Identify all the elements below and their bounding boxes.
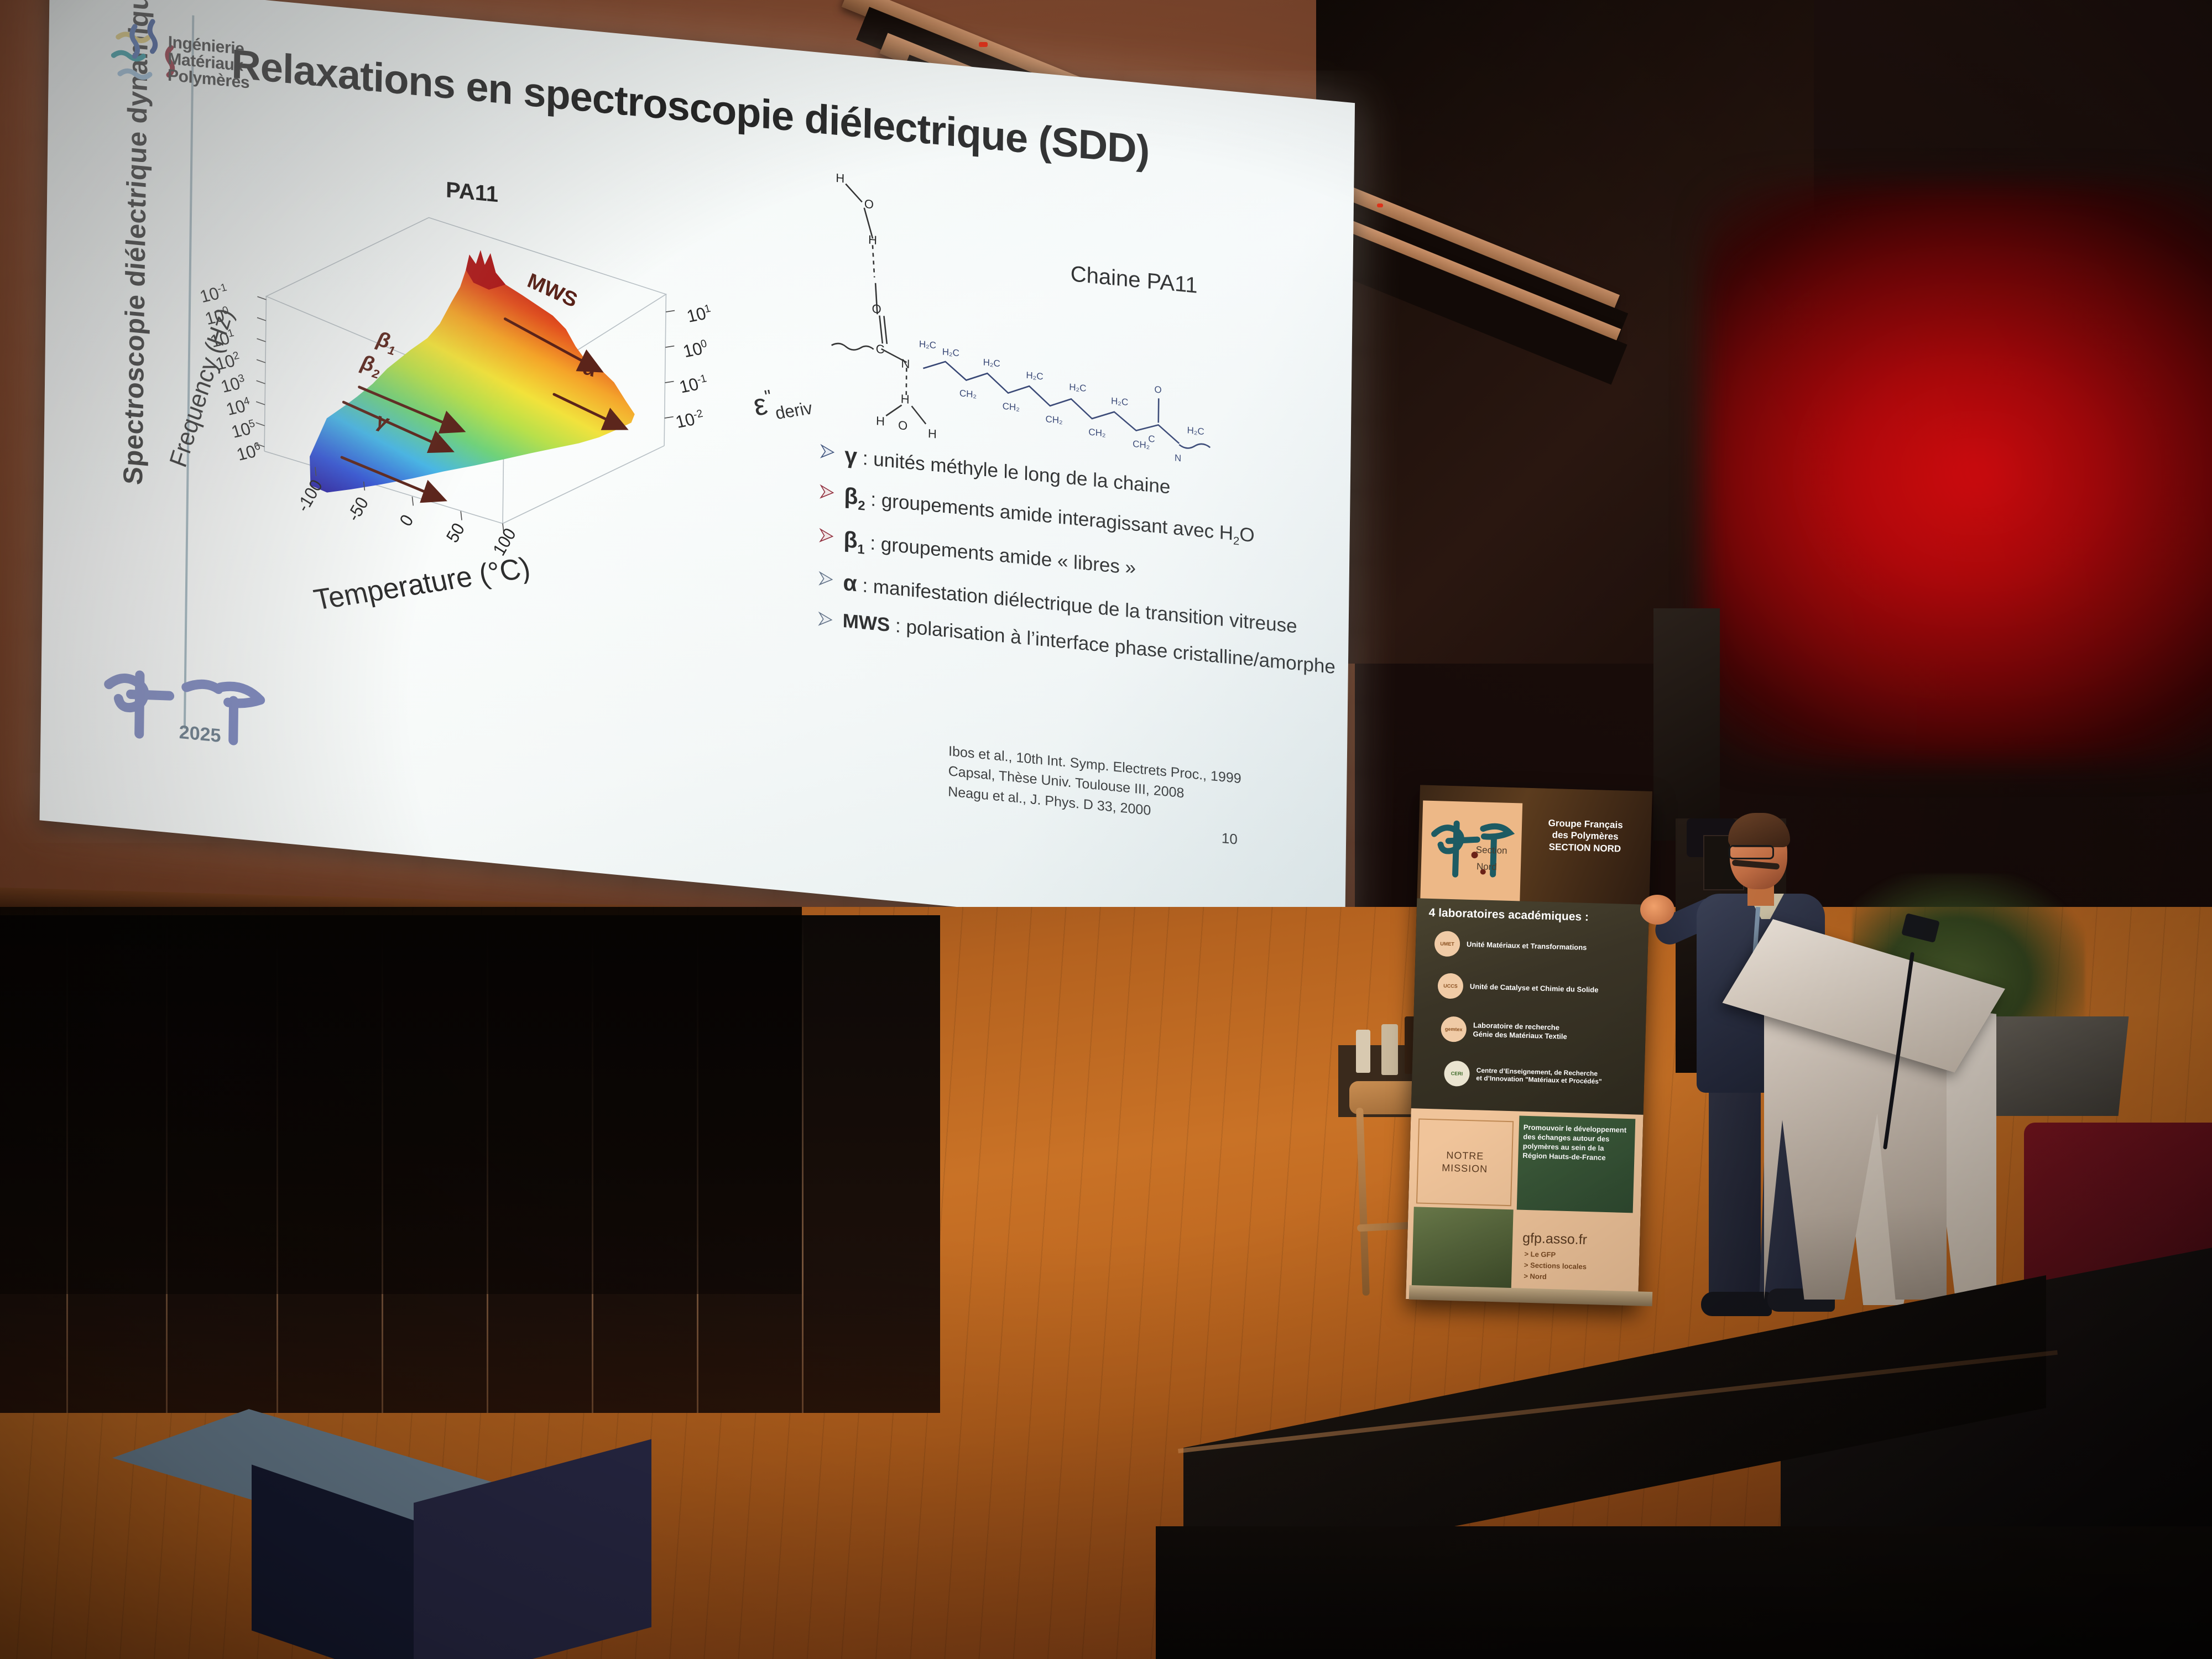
pa11-3d-surface-chart: PA11 — [208, 156, 789, 708]
svg-text:CH₂: CH₂ — [1133, 439, 1150, 451]
banner-mission-text: Promouvoir le développement des échanges… — [1517, 1116, 1636, 1213]
bullet-h2o-sub: 2 — [1233, 535, 1240, 548]
banner-logo-section: Section — [1476, 844, 1507, 856]
svg-text:H: H — [901, 392, 910, 406]
svg-text:CH₂: CH₂ — [1045, 414, 1062, 426]
lab-badge-icon: UMET — [1434, 931, 1460, 957]
svg-text:N: N — [1175, 452, 1181, 463]
x-axis-title: Temperature (°C) — [311, 551, 534, 617]
svg-text:H: H — [876, 414, 885, 428]
bottle-2 — [1381, 1024, 1398, 1075]
screen-surface: Spectroscopie diélectrique dynamique Ing… — [40, 0, 1355, 943]
lab-name: Unité Matériaux et Transformations — [1467, 940, 1587, 952]
curtain-seam — [802, 915, 804, 1413]
lab-name: Centre d’Enseignement, de Recherche et d… — [1476, 1066, 1602, 1086]
bullet-symbol-beta1: β — [843, 526, 858, 553]
bullet-text-beta1: : groupements amide « libres » — [864, 531, 1136, 578]
svg-text:O: O — [1154, 384, 1161, 395]
bullet-arrow-icon — [818, 483, 835, 507]
speaker-hand — [1640, 895, 1674, 925]
banner-labs-section: 4 laboratoires académiques : UMET Unité … — [1411, 898, 1649, 1115]
lab-badge-icon: CERI — [1444, 1061, 1470, 1087]
lab-name: Laboratoire de recherche Génie des Matér… — [1473, 1021, 1567, 1041]
bullet-symbol-gamma: γ — [844, 442, 857, 469]
banner-lab-row: UMET Unité Matériaux et Transformations — [1434, 931, 1587, 961]
banner-lab-row: gemtex Laboratoire de recherche Génie de… — [1441, 1016, 1567, 1045]
bullet-symbol-alpha: α — [843, 570, 857, 596]
banner-links: > Le GFP > Sections locales > Nord — [1524, 1249, 1587, 1284]
bottle-1 — [1356, 1030, 1370, 1073]
bullet-arrow-icon — [818, 526, 834, 550]
auditorium-scene: Spectroscopie diélectrique dynamique Ing… — [0, 0, 2212, 1659]
speaker-left-shoe — [1701, 1292, 1772, 1316]
banner-url[interactable]: gfp.asso.fr — [1522, 1230, 1587, 1248]
svg-text:C: C — [1148, 434, 1155, 445]
bullet-h2o-o: O — [1239, 524, 1255, 547]
lab-badge-icon: gemtex — [1441, 1016, 1467, 1042]
lab-name: Unité de Catalyse et Chimie du Solide — [1470, 982, 1599, 994]
slide-title: Relaxations en spectroscopie diélectriqu… — [231, 41, 1227, 181]
banner-mission-section: NOTRE MISSION Promouvoir le développemen… — [1406, 1108, 1643, 1306]
gfp-rollup-banner: Section Nord Groupe Français des Polymèr… — [1406, 785, 1652, 1305]
flight-case-body — [1156, 1526, 2212, 1659]
bullet-arrow-icon — [819, 442, 836, 466]
bullet-symbol-beta2: β — [844, 483, 858, 509]
svg-text:H₂C: H₂C — [1026, 370, 1043, 382]
svg-text:H: H — [868, 233, 877, 247]
gfp-logo-year: 2025 — [179, 722, 221, 747]
svg-text:H₂C: H₂C — [983, 357, 1000, 369]
banner-lab-row: UCCS Unité de Catalyse et Chimie du Soli… — [1437, 973, 1599, 1003]
svg-text:C: C — [876, 342, 885, 356]
red-spotlight — [1703, 182, 2212, 763]
slide-references: Ibos et al., 10th Int. Symp. Electrets P… — [948, 741, 1241, 829]
svg-text:H: H — [836, 171, 844, 185]
svg-text:O: O — [864, 197, 874, 212]
bullet-arrow-icon — [817, 570, 834, 593]
speaker-cabinet-upper — [1653, 608, 1720, 841]
svg-text:H₂C: H₂C — [942, 346, 959, 358]
svg-text:H₂C: H₂C — [1069, 382, 1086, 394]
svg-text:CH₂: CH₂ — [959, 388, 977, 400]
svg-text:H₂C: H₂C — [919, 338, 936, 351]
svg-text:CH₂: CH₂ — [1003, 401, 1020, 413]
banner-heading: Groupe Français des Polymères SECTION NO… — [1527, 817, 1644, 855]
banner-logo-nord: Nord — [1477, 861, 1497, 872]
z-axis-title: ε"deriv — [750, 380, 815, 427]
slide-side-tab: Spectroscopie diélectrique dynamique — [118, 140, 153, 486]
banner-lab-row: CERI Centre d’Enseignement, de Recherche… — [1444, 1061, 1603, 1091]
banner-mission-label: NOTRE MISSION — [1416, 1118, 1514, 1206]
pa11-molecule-diagram: Chaine PA11 — [808, 171, 1365, 489]
bullet-arrow-icon — [817, 610, 833, 634]
svg-text:H₂C: H₂C — [1187, 425, 1204, 437]
lab-badge-icon: UCCS — [1437, 973, 1463, 999]
svg-text:O: O — [898, 418, 907, 433]
presentation-slide: Spectroscopie diélectrique dynamique Ing… — [40, 0, 1355, 943]
stage-shadow — [0, 907, 802, 1294]
svg-text:CH₂: CH₂ — [1088, 427, 1105, 439]
stool-leg — [1356, 1108, 1370, 1296]
bullet-sub-beta2: 2 — [858, 498, 865, 514]
svg-text:H₂C: H₂C — [1111, 395, 1128, 408]
slide-page-number: 10 — [1222, 830, 1238, 848]
bullet-sub-beta1: 1 — [857, 541, 865, 557]
ytick-0: 10-1 — [197, 281, 231, 307]
banner-logo-block: Section Nord — [1420, 800, 1522, 902]
bullet-symbol-mws: MWS — [842, 610, 890, 636]
banner-photo — [1411, 1207, 1513, 1298]
banner-link-3: > Nord — [1524, 1271, 1587, 1284]
svg-text:N: N — [901, 356, 910, 371]
banner-labs-heading: 4 laboratoires académiques : — [1428, 906, 1589, 924]
chart-title: PA11 — [446, 178, 498, 207]
speaker-glasses-icon — [1729, 845, 1774, 859]
svg-text:O: O — [872, 301, 881, 316]
speaker-left-leg — [1709, 1083, 1761, 1304]
chart-plot-area — [242, 189, 728, 577]
svg-text:H: H — [928, 426, 937, 441]
